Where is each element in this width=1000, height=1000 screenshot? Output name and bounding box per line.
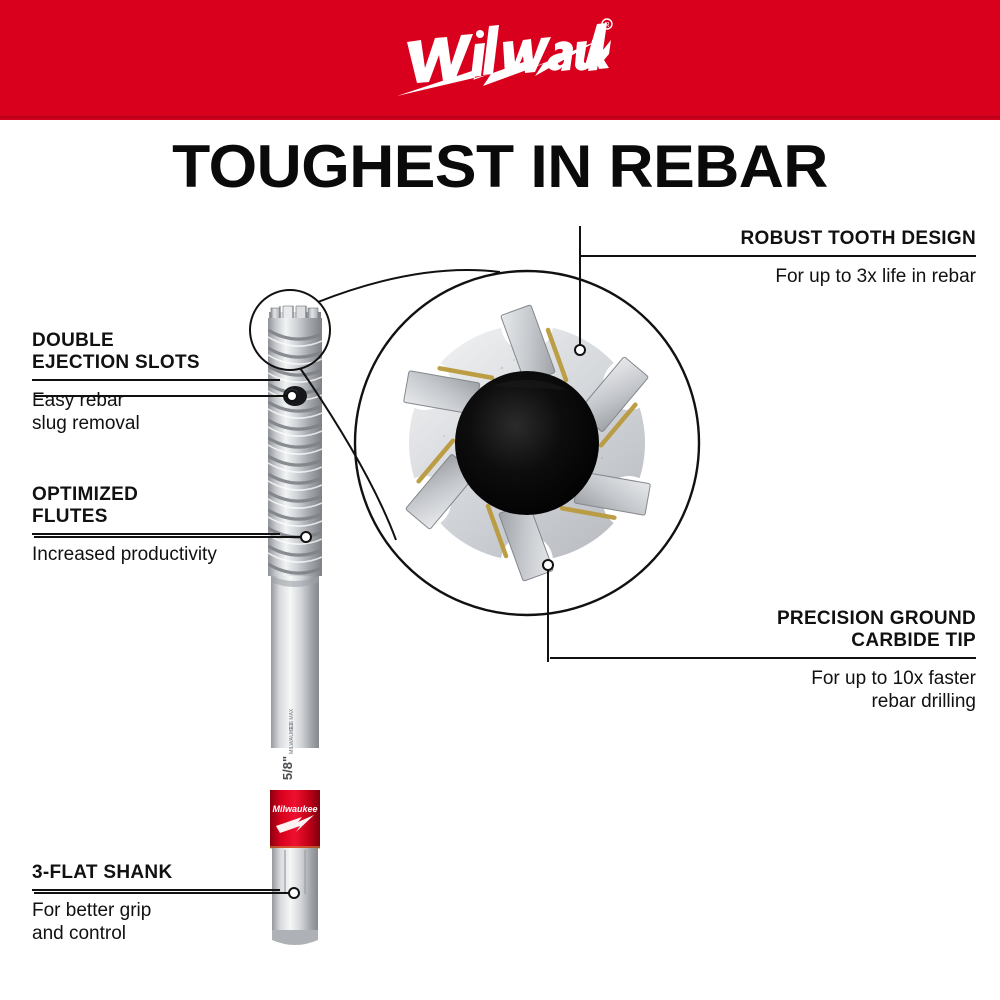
milwaukee-logo-icon: R	[385, 10, 615, 110]
callout-title: 3-FLAT SHANK	[32, 862, 280, 884]
svg-text:SDS MAX: SDS MAX	[289, 708, 295, 731]
callout-rule	[550, 657, 976, 659]
callout-title: OPTIMIZED FLUTES	[32, 484, 280, 528]
callout-body: Increased productivity	[32, 543, 280, 566]
callout-optimized-flutes: OPTIMIZED FLUTES Increased productivity	[32, 484, 280, 566]
callout-title: ROBUST TOOTH DESIGN	[580, 228, 976, 250]
magnified-tip-view	[352, 268, 702, 618]
callout-title: PRECISION GROUND CARBIDE TIP	[550, 608, 976, 652]
callout-body: For better grip and control	[32, 899, 280, 945]
red-brand-band: Milwaukee	[270, 790, 320, 849]
callout-robust-tooth-design: ROBUST TOOTH DESIGN For up to 3x life in…	[580, 228, 976, 288]
callout-rule	[32, 889, 280, 891]
tip-center-bore	[455, 371, 599, 515]
callout-3-flat-shank: 3-FLAT SHANK For better grip and control	[32, 862, 280, 945]
callout-precision-ground-carbide-tip: PRECISION GROUND CARBIDE TIP For up to 1…	[550, 608, 976, 713]
callout-rule	[580, 255, 976, 257]
infographic-page: R TOUGHEST IN REBAR	[0, 0, 1000, 1000]
callout-body: For up to 3x life in rebar	[580, 265, 976, 288]
header-shadow	[0, 116, 1000, 120]
brand-header-bar: R	[0, 0, 1000, 120]
svg-text:R: R	[604, 22, 609, 29]
svg-text:5/8": 5/8"	[280, 756, 295, 780]
callout-title: DOUBLE EJECTION SLOTS	[32, 330, 280, 374]
callout-double-ejection-slots: DOUBLE EJECTION SLOTS Easy rebar slug re…	[32, 330, 280, 435]
svg-text:Milwaukee: Milwaukee	[272, 804, 317, 814]
callout-rule	[32, 379, 280, 381]
page-title: TOUGHEST IN REBAR	[0, 135, 1000, 199]
ejection-slot-lower	[283, 386, 307, 406]
callout-body: For up to 10x faster rebar drilling	[550, 667, 976, 713]
callout-rule	[32, 533, 280, 535]
milwaukee-logo: R	[385, 10, 615, 110]
callout-body: Easy rebar slug removal	[32, 389, 280, 435]
bit-shaft	[271, 576, 319, 748]
